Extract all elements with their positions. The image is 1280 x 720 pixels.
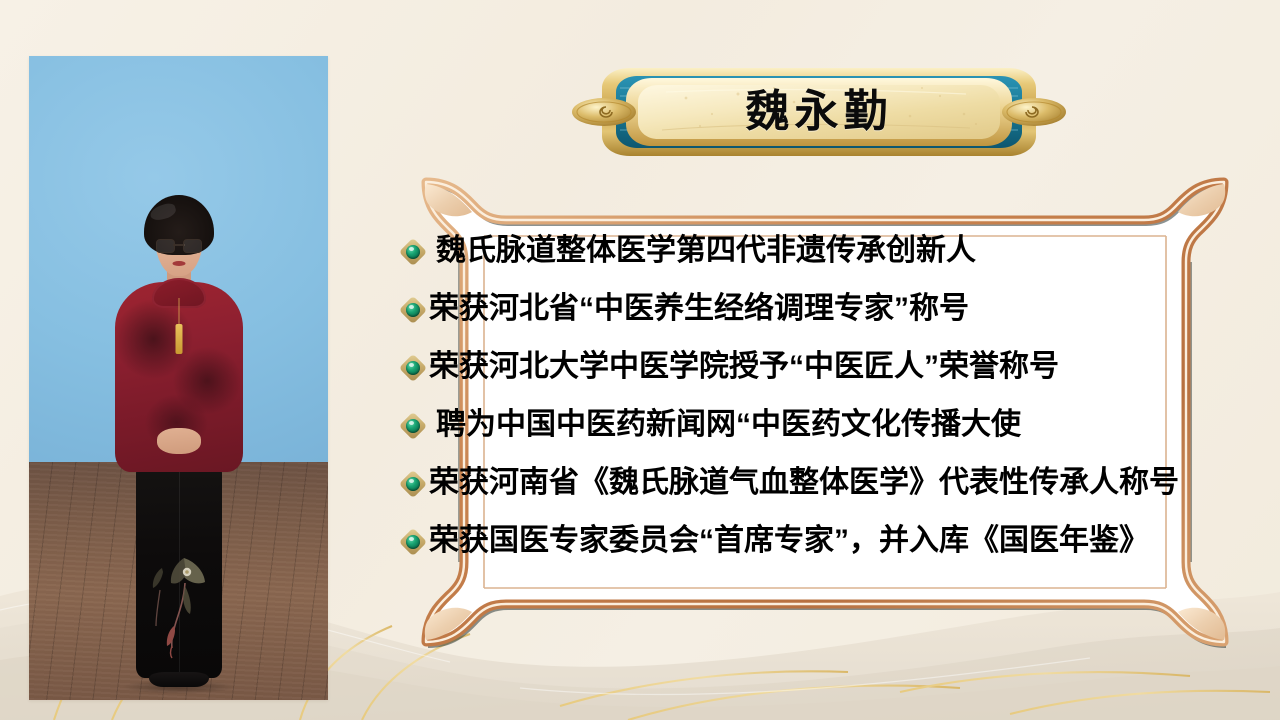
green-gem-bullet-icon xyxy=(402,241,424,263)
title-banner: 魏永勤 xyxy=(566,58,1072,166)
glasses-left-lens xyxy=(156,239,175,253)
credential-text: 魏氏脉道整体医学第四代非遗传承创新人 xyxy=(429,236,976,266)
figure-shoes xyxy=(149,672,209,687)
list-item: 荣获河南省《魏氏脉道气血整体医学》代表性传承人称号 xyxy=(402,454,1254,512)
list-item: 荣获河北省“中医养生经络调理专家”称号 xyxy=(402,280,1254,338)
credential-text: 荣获国医专家委员会“首席专家”，并入库《国医年鉴》 xyxy=(429,526,1149,556)
figure-hands xyxy=(157,428,201,454)
list-item: 荣获国医专家委员会“首席专家”，并入库《国医年鉴》 xyxy=(402,512,1254,570)
slide-root: 魏永勤 xyxy=(0,0,1280,720)
figure-mouth xyxy=(172,261,185,266)
credentials-list: 魏氏脉道整体医学第四代非遗传承创新人 荣获河北省“中医养生经络调理专家”称号 荣… xyxy=(402,222,1254,570)
green-gem-bullet-icon xyxy=(402,473,424,495)
figure-pendant-icon xyxy=(175,324,182,354)
green-gem-bullet-icon xyxy=(402,357,424,379)
glasses-right-lens xyxy=(183,239,202,253)
green-gem-bullet-icon xyxy=(402,415,424,437)
figure-glasses-icon xyxy=(156,239,202,252)
page-title: 魏永勤 xyxy=(566,90,1072,134)
trouser-embroidery-icon xyxy=(144,552,214,660)
portrait-photo xyxy=(29,56,328,700)
green-gem-bullet-icon xyxy=(402,299,424,321)
list-item: 聘为中国中医药新闻网“中医药文化传播大使 xyxy=(402,396,1254,454)
list-item: 荣获河北大学中医学院授予“中医匠人”荣誉称号 xyxy=(402,338,1254,396)
credential-text: 荣获河南省《魏氏脉道气血整体医学》代表性传承人称号 xyxy=(429,468,1179,498)
credential-text: 聘为中国中医药新闻网“中医药文化传播大使 xyxy=(429,410,1021,440)
credential-text: 荣获河北大学中医学院授予“中医匠人”荣誉称号 xyxy=(429,352,1059,382)
photo-scene xyxy=(29,56,328,700)
credential-text: 荣获河北省“中医养生经络调理专家”称号 xyxy=(429,294,969,324)
green-gem-bullet-icon xyxy=(402,531,424,553)
credentials-card: 魏氏脉道整体医学第四代非遗传承创新人 荣获河北省“中医养生经络调理专家”称号 荣… xyxy=(380,176,1270,648)
list-item: 魏氏脉道整体医学第四代非遗传承创新人 xyxy=(402,222,1254,280)
